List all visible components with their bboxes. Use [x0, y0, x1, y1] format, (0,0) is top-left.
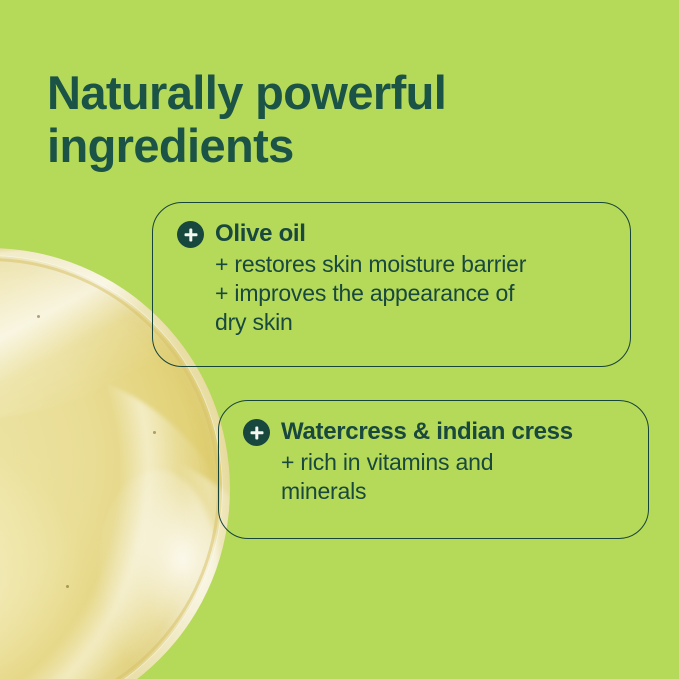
- ingredient-title: Watercress & indian cress: [281, 419, 573, 445]
- ingredient-card-header: Watercress & indian cress: [243, 419, 624, 446]
- ingredient-card-content: Watercress & indian cress + rich in vita…: [219, 401, 648, 506]
- plus-circle-icon: [177, 221, 204, 248]
- ingredient-benefits-text: + rich in vitamins and minerals: [281, 448, 624, 506]
- ingredient-card-watercress[interactable]: Watercress & indian cress + rich in vita…: [218, 400, 649, 539]
- ingredient-benefits: + rich in vitamins and minerals: [281, 448, 624, 506]
- ingredient-title: Olive oil: [215, 221, 306, 247]
- page-title: Naturally powerful ingredients: [47, 67, 607, 172]
- ingredient-card-header: Olive oil: [177, 221, 606, 248]
- ingredient-card-content: Olive oil + restores skin moisture barri…: [153, 203, 630, 337]
- plus-circle-icon: [243, 419, 270, 446]
- ingredient-benefits-text: + restores skin moisture barrier + impro…: [215, 250, 606, 337]
- ingredients-panel: Naturally powerful ingredients Olive oil…: [0, 0, 679, 679]
- ingredient-card-olive-oil[interactable]: Olive oil + restores skin moisture barri…: [152, 202, 631, 367]
- ingredient-benefits: + restores skin moisture barrier + impro…: [215, 250, 606, 337]
